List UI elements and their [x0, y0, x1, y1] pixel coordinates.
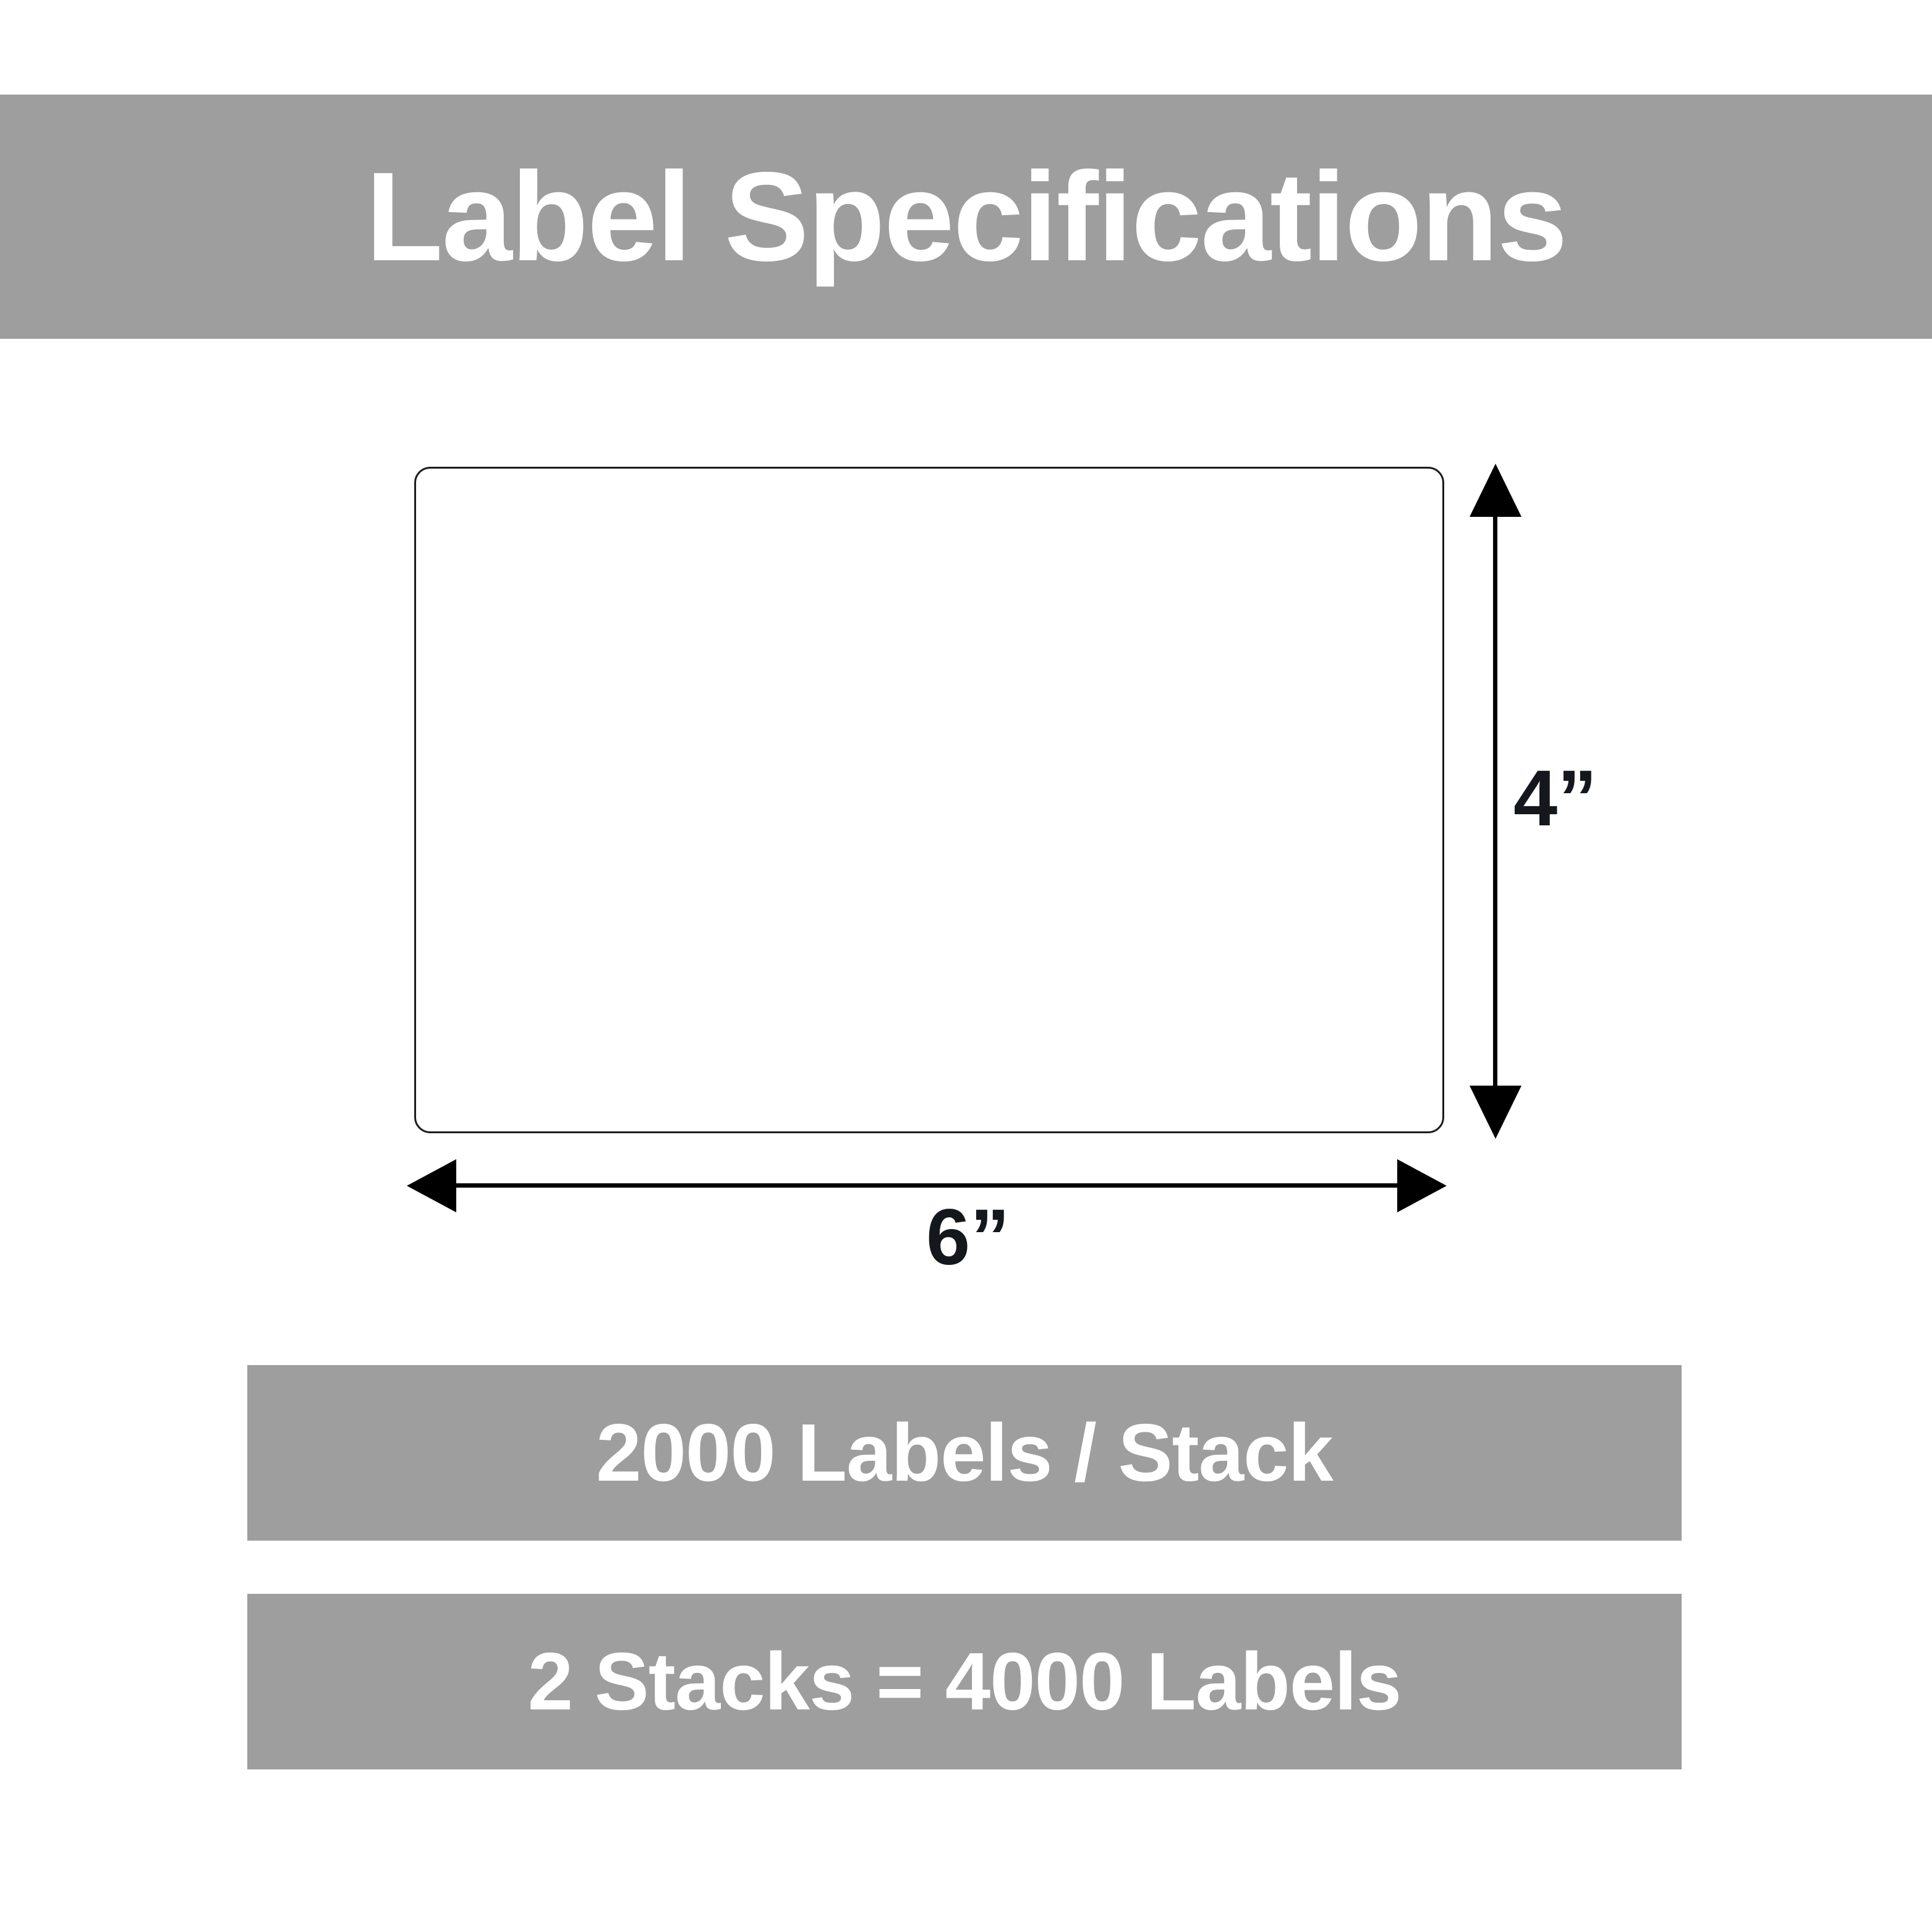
height-dimension-label: 4” — [1513, 759, 1597, 838]
label-diagram: 4” 6” — [0, 0, 1932, 1329]
spec-bar-labels-per-stack-text: 2000 Labels / Stack — [596, 1412, 1333, 1494]
spec-bar-total-labels: 2 Stacks = 4000 Labels — [247, 1594, 1682, 1769]
spec-bar-labels-per-stack: 2000 Labels / Stack — [247, 1365, 1682, 1541]
label-rectangle — [414, 467, 1444, 1133]
label-specifications-page: Label Specifications 4” 6” 2000 Labels /… — [0, 0, 1932, 1932]
width-dimension-label: 6” — [926, 1198, 1010, 1277]
spec-bar-total-labels-text: 2 Stacks = 4000 Labels — [528, 1641, 1402, 1722]
